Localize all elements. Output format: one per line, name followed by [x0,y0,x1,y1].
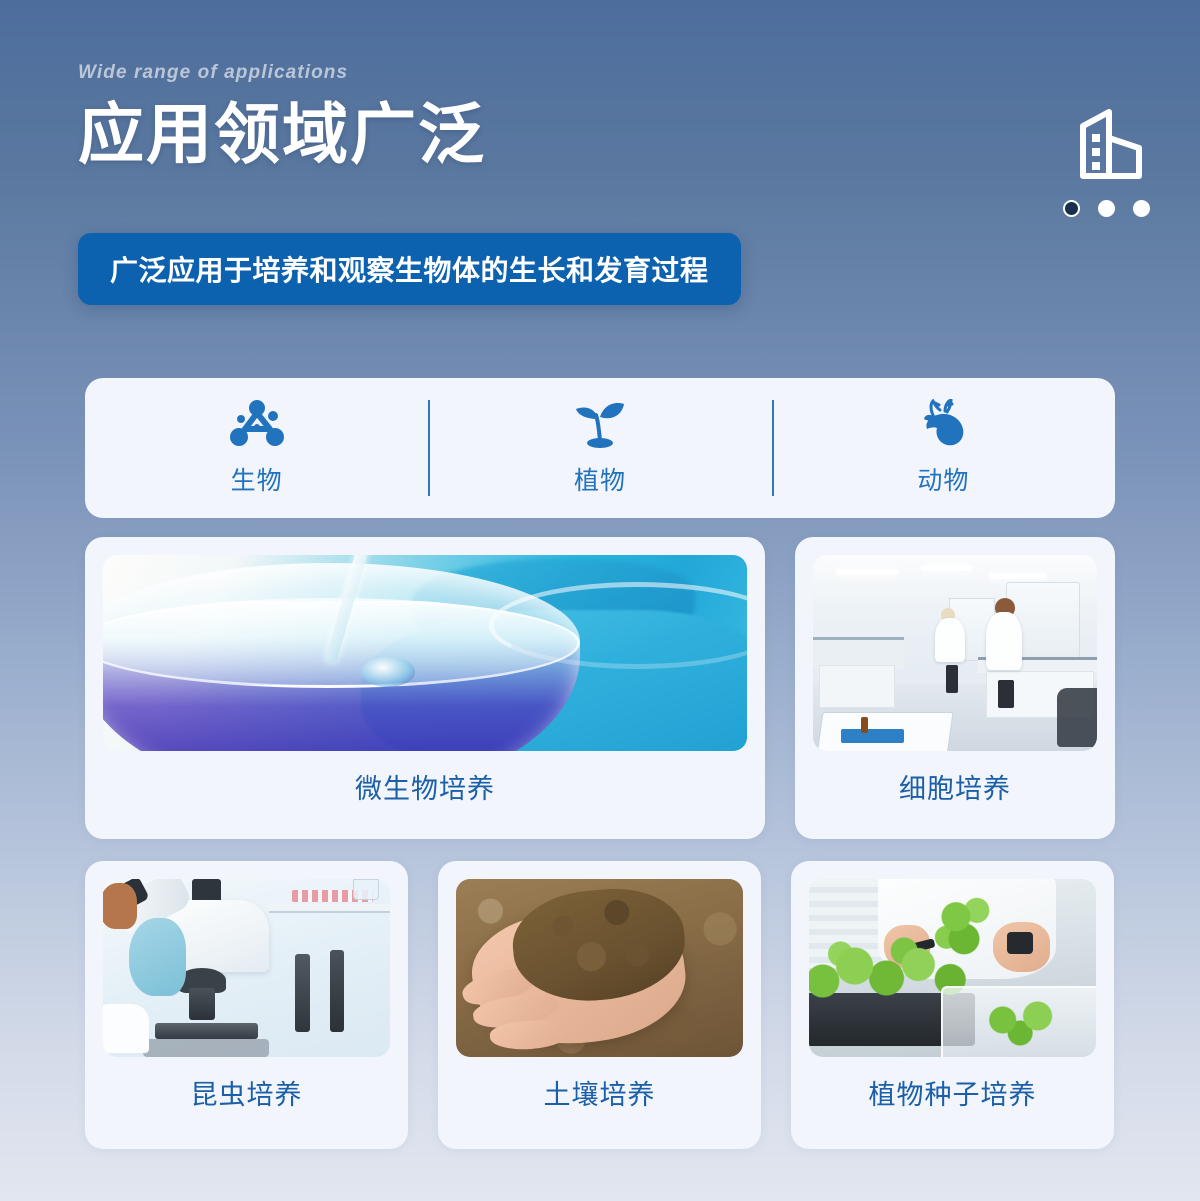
microscope-photo [103,879,390,1057]
category-label: 动物 [917,461,969,497]
category-item-animal[interactable]: 动物 [772,399,1115,497]
laboratory-room-photo [813,555,1097,751]
card-insect-culture[interactable]: 昆虫培养 [85,861,408,1149]
deer-icon [915,399,971,449]
page-title: 应用领域广泛 [78,100,1128,169]
card-soil-culture[interactable]: 土壤培养 [438,861,761,1149]
petri-dish-pipette-photo [103,555,747,751]
category-bar: 生物 植物 动物 [85,378,1115,518]
card-label: 昆虫培养 [191,1073,303,1112]
tagline-text: 广泛应用于培养和观察生物体的生长和发育过程 [110,249,709,289]
sprout-icon [572,399,628,449]
carousel-dots[interactable] [1063,200,1150,217]
card-label: 细胞培养 [899,767,1011,806]
tagline-banner: 广泛应用于培养和观察生物体的生长和发育过程 [78,233,741,305]
molecule-icon [229,399,285,449]
carousel-dot-1[interactable] [1063,200,1080,217]
carousel-dot-3[interactable] [1133,200,1150,217]
category-item-plant[interactable]: 植物 [428,399,771,497]
soil-in-hand-photo [456,879,743,1057]
category-label: 生物 [231,461,283,497]
card-microbe-culture[interactable]: 微生物培养 [85,537,765,839]
card-cell-culture[interactable]: 细胞培养 [795,537,1115,839]
building-icon [1079,108,1145,180]
card-label: 植物种子培养 [869,1073,1037,1112]
card-row-2: 昆虫培养 土壤培养 [85,861,1115,1149]
carousel-dot-2[interactable] [1098,200,1115,217]
card-row-1: 微生物培养 [85,537,1115,839]
eyebrow-text: Wide range of applications [78,62,1128,84]
seedling-trays-photo [809,879,1096,1057]
card-label: 微生物培养 [355,767,495,806]
category-item-biology[interactable]: 生物 [85,399,428,497]
card-plant-seed-culture[interactable]: 植物种子培养 [791,861,1114,1149]
page-header: Wide range of applications 应用领域广泛 [78,62,1128,169]
category-label: 植物 [574,461,626,497]
card-label: 土壤培养 [544,1073,656,1112]
